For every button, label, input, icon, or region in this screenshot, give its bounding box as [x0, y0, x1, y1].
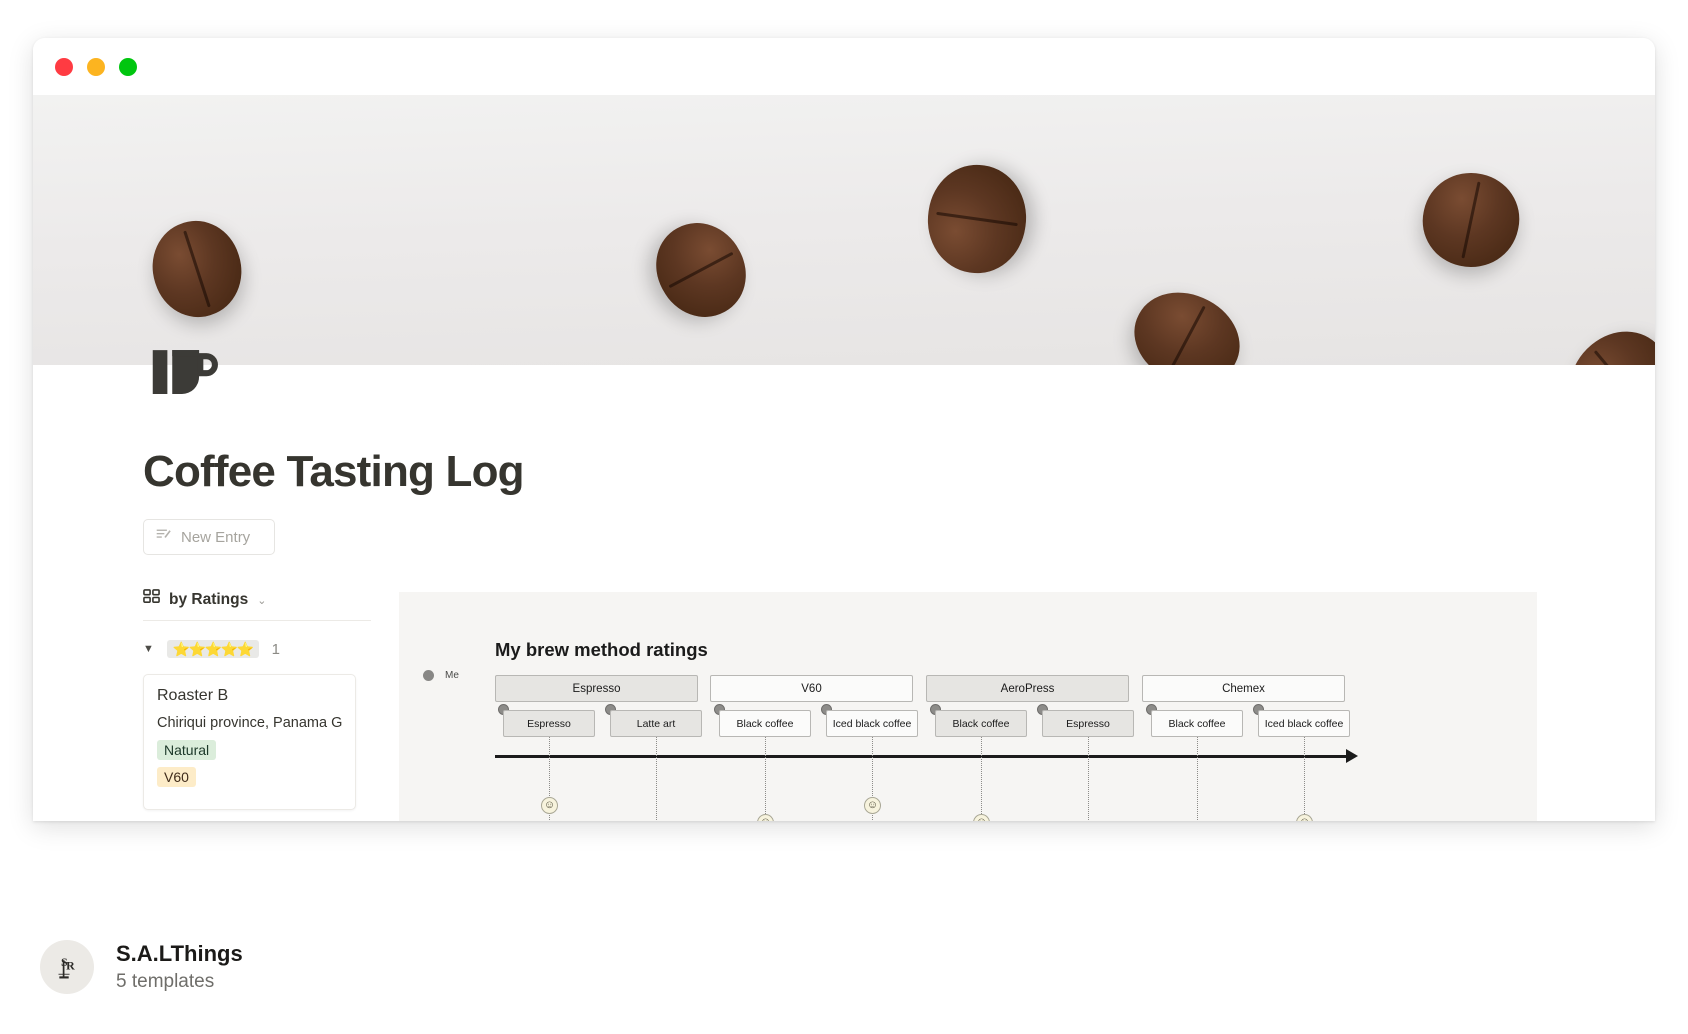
rating-face-happy: ☺ — [973, 814, 990, 821]
timeline-axis — [495, 755, 1350, 758]
drink-box-espresso-latte-art[interactable]: Latte art — [610, 710, 702, 737]
method-box-chemex[interactable]: Chemex — [1142, 675, 1345, 702]
rating-face-happy: ☺ — [541, 797, 558, 814]
view-label: by Ratings — [169, 591, 248, 609]
template-count: 5 templates — [116, 971, 243, 993]
coffee-bean-decoration — [140, 210, 253, 328]
chevron-down-icon[interactable]: ⌄ — [257, 594, 266, 607]
brew-method-chart: My brew method ratings Me Espresso V60 A… — [399, 592, 1537, 821]
cover-image — [33, 95, 1655, 365]
new-entry-icon — [155, 526, 172, 548]
rating-face-happy: ☺ — [757, 814, 774, 821]
connector-line — [656, 737, 657, 821]
coffee-cup-icon[interactable] — [143, 333, 221, 411]
drink-box-chemex-black-coffee[interactable]: Black coffee — [1151, 710, 1243, 737]
method-box-aeropress[interactable]: AeroPress — [926, 675, 1129, 702]
legend-color-swatch — [423, 670, 434, 681]
coffee-bean-decoration — [1551, 312, 1655, 365]
card-tag-method: V60 — [157, 767, 196, 787]
avatar: S R — [40, 940, 94, 994]
gallery-view-icon — [143, 589, 160, 611]
drink-box-espresso-espresso[interactable]: Espresso — [503, 710, 595, 737]
method-box-v60[interactable]: V60 — [710, 675, 913, 702]
connector-line — [1304, 737, 1305, 821]
rating-face-happy: ☺ — [1296, 814, 1313, 821]
connector-line — [1088, 737, 1089, 821]
collapse-toggle-icon[interactable]: ▼ — [143, 643, 154, 655]
view-selector[interactable]: by Ratings ⌄ — [143, 589, 371, 621]
rating-stars-badge: ⭐⭐⭐⭐⭐ — [167, 640, 259, 658]
coffee-bean-decoration — [640, 207, 761, 332]
chart-title: My brew method ratings — [495, 639, 708, 661]
new-entry-button[interactable]: New Entry — [143, 519, 275, 555]
card-subtitle: Chiriqui province, Panama Geisha — [157, 715, 342, 731]
drink-box-aeropress-black-coffee[interactable]: Black coffee — [935, 710, 1027, 737]
page-title: Coffee Tasting Log — [143, 365, 1655, 497]
maximize-window-button[interactable] — [119, 58, 137, 76]
close-window-button[interactable] — [55, 58, 73, 76]
drink-box-v60-iced-black-coffee[interactable]: Iced black coffee — [826, 710, 918, 737]
gallery-card[interactable]: Roaster B Chiriqui province, Panama Geis… — [143, 674, 356, 810]
window-titlebar — [33, 38, 1655, 95]
app-window: Coffee Tasting Log New Entry — [33, 38, 1655, 821]
method-box-espresso[interactable]: Espresso — [495, 675, 698, 702]
connector-line — [765, 737, 766, 821]
rating-group-count: 1 — [272, 641, 280, 658]
minimize-window-button[interactable] — [87, 58, 105, 76]
gallery-sidebar: by Ratings ⌄ ▼ ⭐⭐⭐⭐⭐ 1 Roaster B Chiriqu — [143, 589, 371, 821]
legend-label: Me — [445, 670, 459, 681]
coffee-bean-decoration — [921, 159, 1033, 280]
coffee-bean-decoration — [1414, 164, 1527, 276]
card-title: Roaster B — [157, 687, 342, 705]
connector-line — [1197, 737, 1198, 821]
timeline-arrow-icon — [1346, 749, 1358, 763]
drink-box-v60-black-coffee[interactable]: Black coffee — [719, 710, 811, 737]
rating-group: ▼ ⭐⭐⭐⭐⭐ 1 Roaster B Chiriqui province, P… — [143, 621, 371, 821]
drink-box-aeropress-espresso[interactable]: Espresso — [1042, 710, 1134, 737]
svg-text:R: R — [66, 959, 75, 973]
connector-line — [981, 737, 982, 821]
rating-group-header[interactable]: ▼ ⭐⭐⭐⭐⭐ 1 — [143, 638, 371, 660]
template-author-footer: S R S.A.LThings 5 templates — [40, 940, 243, 994]
new-entry-label: New Entry — [181, 529, 250, 546]
card-tag-process: Natural — [157, 740, 216, 760]
author-name: S.A.LThings — [116, 941, 243, 967]
page-body: Coffee Tasting Log New Entry — [33, 365, 1655, 821]
drink-box-chemex-iced-black-coffee[interactable]: Iced black coffee — [1258, 710, 1350, 737]
rating-face-happy: ☺ — [864, 797, 881, 814]
coffee-bean-decoration — [1119, 275, 1256, 365]
chart-legend: Me — [423, 670, 459, 681]
